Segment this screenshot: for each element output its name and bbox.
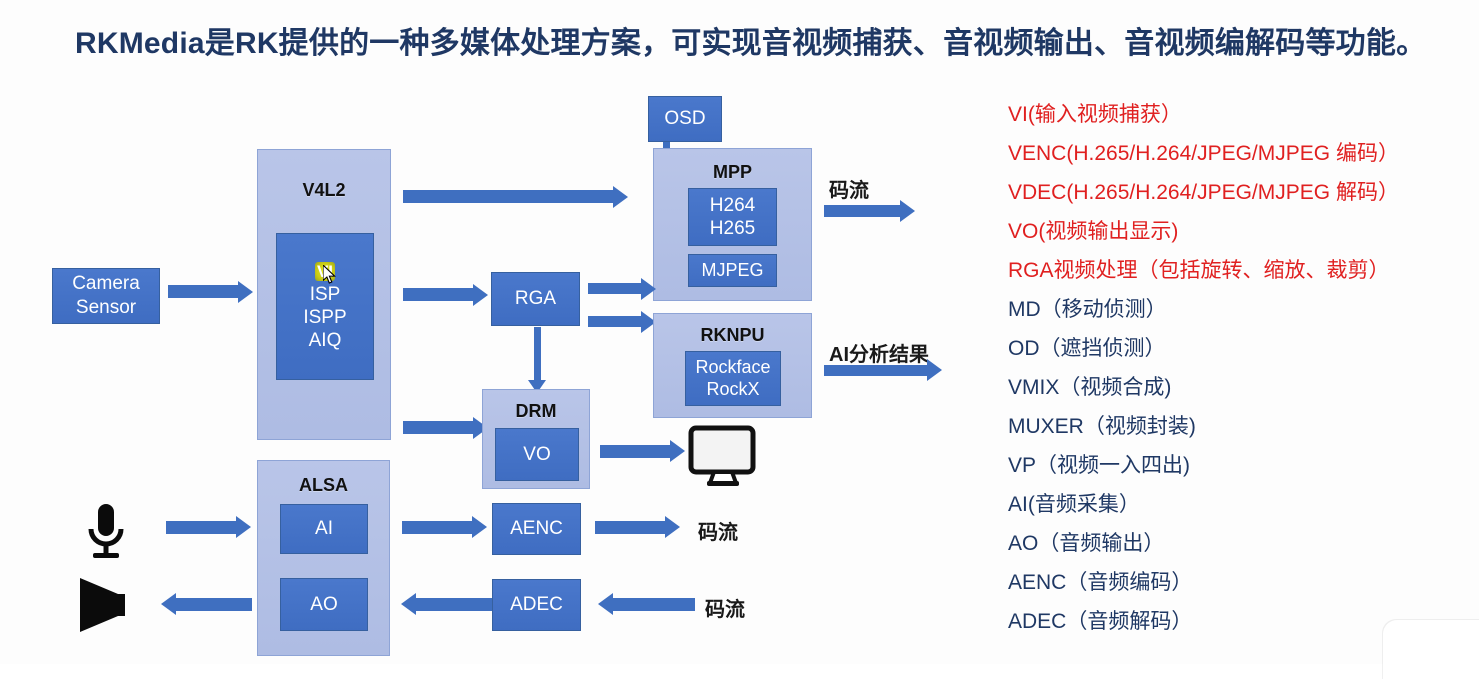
rknpu-model-block: Rockface RockX bbox=[685, 351, 781, 406]
rockx-label: RockX bbox=[706, 379, 759, 401]
microphone-icon bbox=[82, 502, 130, 569]
legend-item: VP（视频一入四出) bbox=[1008, 446, 1468, 485]
rknpu-container: RKNPU Rockface RockX bbox=[653, 313, 812, 418]
v4l2-isp-block: VI ISP ISPP AIQ bbox=[276, 233, 374, 380]
legend-list: VI(输入视频捕获）VENC(H.265/H.264/JPEG/MJPEG 编码… bbox=[1008, 95, 1468, 641]
legend-item: MUXER（视频封装) bbox=[1008, 407, 1468, 446]
h264-label: H264 bbox=[710, 194, 755, 217]
rockface-label: Rockface bbox=[695, 357, 770, 379]
legend-item: AI(音频采集） bbox=[1008, 485, 1468, 524]
alsa-ai-block: AI bbox=[280, 504, 368, 554]
aenc-label: AENC bbox=[510, 517, 563, 541]
panel-corner bbox=[1383, 620, 1479, 680]
camera-sensor-block: Camera Sensor bbox=[52, 268, 160, 324]
ao-label: AO bbox=[310, 593, 337, 616]
alsa-title: ALSA bbox=[258, 475, 389, 496]
alsa-ao-block: AO bbox=[280, 578, 368, 631]
aenc-block: AENC bbox=[492, 503, 581, 555]
camera-sensor-line1: Camera bbox=[72, 272, 140, 296]
monitor-icon bbox=[688, 425, 758, 494]
legend-item: VI(输入视频捕获） bbox=[1008, 95, 1468, 134]
legend-item: VENC(H.265/H.264/JPEG/MJPEG 编码） bbox=[1008, 134, 1468, 173]
rga-label: RGA bbox=[515, 287, 556, 311]
rga-block: RGA bbox=[491, 272, 580, 326]
osd-block: OSD bbox=[648, 96, 722, 142]
aenc-stream-label: 码流 bbox=[698, 516, 738, 545]
adec-label: ADEC bbox=[510, 593, 563, 617]
adec-block: ADEC bbox=[492, 579, 581, 631]
ai-result-label: AI分析结果 bbox=[829, 338, 929, 367]
ispp-label: ISPP bbox=[303, 306, 346, 329]
osd-label: OSD bbox=[664, 107, 705, 131]
aiq-label: AIQ bbox=[309, 329, 342, 352]
camera-sensor-line2: Sensor bbox=[76, 296, 136, 320]
ai-label: AI bbox=[315, 517, 333, 540]
legend-item: RGA视频处理（包括旋转、缩放、裁剪） bbox=[1008, 251, 1468, 290]
h265-label: H265 bbox=[710, 217, 755, 240]
speaker-icon bbox=[72, 572, 138, 641]
mpp-mjpeg-block: MJPEG bbox=[688, 254, 777, 287]
legend-item: AENC（音频编码） bbox=[1008, 563, 1468, 602]
mpp-codec-block: H264 H265 bbox=[688, 188, 777, 246]
legend-item: VMIX（视频合成) bbox=[1008, 368, 1468, 407]
mouse-cursor-icon bbox=[323, 265, 337, 291]
page-title: RKMedia是RK提供的一种多媒体处理方案，可实现音视频捕获、音视频输出、音视… bbox=[75, 18, 1445, 62]
legend-item: VDEC(H.265/H.264/JPEG/MJPEG 解码） bbox=[1008, 173, 1468, 212]
mpp-title: MPP bbox=[654, 162, 811, 183]
legend-item: AO（音频输出） bbox=[1008, 524, 1468, 563]
adec-stream-label: 码流 bbox=[705, 593, 745, 622]
rknpu-title: RKNPU bbox=[654, 325, 811, 346]
drm-container: DRM VO bbox=[482, 389, 590, 489]
vo-block: VO bbox=[495, 428, 579, 481]
mpp-container: MPP H264 H265 MJPEG bbox=[653, 148, 812, 301]
vi-label-with-cursor: VI bbox=[315, 261, 335, 283]
v4l2-container: V4L2 VI ISP ISPP AIQ bbox=[257, 149, 391, 440]
v4l2-title: V4L2 bbox=[258, 180, 390, 201]
video-stream-label: 码流 bbox=[829, 174, 869, 203]
legend-item: MD（移动侦测） bbox=[1008, 290, 1468, 329]
legend-item: VO(视频输出显示) bbox=[1008, 212, 1468, 251]
vo-label: VO bbox=[523, 443, 550, 466]
alsa-container: ALSA AI AO bbox=[257, 460, 390, 656]
drm-title: DRM bbox=[483, 401, 589, 422]
mjpeg-label: MJPEG bbox=[701, 260, 763, 282]
legend-item: OD（遮挡侦测） bbox=[1008, 329, 1468, 368]
slide-canvas: RKMedia是RK提供的一种多媒体处理方案，可实现音视频捕获、音视频输出、音视… bbox=[0, 0, 1479, 664]
